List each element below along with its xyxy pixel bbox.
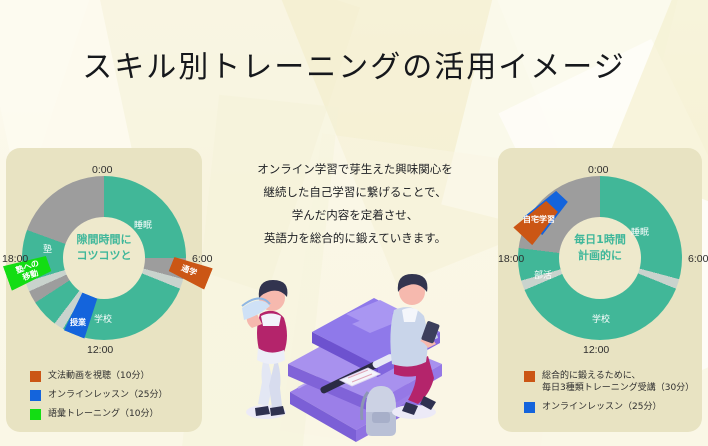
- right-donut-chart: 毎日1時間 計画的に 睡眠 学校 部活 自宅学習: [518, 176, 682, 340]
- left-segment-label-school: 学校: [94, 312, 112, 325]
- right-segment-label-sleep: 睡眠: [631, 225, 649, 238]
- left-segment-label-sleep: 睡眠: [134, 218, 152, 231]
- legend-label: オンラインレッスン（25分）: [542, 401, 661, 413]
- page-title: スキル別トレーニングの活用イメージ: [0, 42, 708, 86]
- left-tick-6: 6:00: [192, 253, 212, 265]
- right-chart-card: 毎日1時間 計画的に 睡眠 学校 部活 自宅学習 0:00 6:00 12:00…: [498, 148, 702, 432]
- description-line-3: 学んだ内容を定着させ、: [222, 204, 488, 227]
- legend-item: オンラインレッスン（25分）: [30, 389, 200, 401]
- legend-label: 文法動画を視聴（10分）: [48, 370, 149, 382]
- right-segment-label-school: 学校: [592, 312, 610, 325]
- legend-item: オンラインレッスン（25分）: [524, 401, 702, 413]
- right-segment-label-club: 部活: [534, 268, 552, 281]
- legend-label-line2: 毎日3種類トレーニング受講（30分）: [542, 382, 694, 394]
- legend-swatch-blue-icon: [524, 402, 535, 413]
- legend-label-block: 総合的に鍛えるために、 毎日3種類トレーニング受講（30分）: [542, 370, 694, 394]
- students-illustration-svg: [228, 252, 484, 446]
- left-legend: 文法動画を視聴（10分） オンラインレッスン（25分） 語彙トレーニング（10分…: [30, 370, 200, 427]
- left-segment-label-cram-school: 塾: [43, 242, 52, 255]
- right-tick-12: 12:00: [583, 344, 609, 356]
- description-line-2: 継続した自己学習に繋げることで、: [222, 181, 488, 204]
- right-center-line2: 計画的に: [518, 248, 682, 264]
- right-tick-18: 18:00: [498, 253, 524, 265]
- legend-item: 語彙トレーニング（10分）: [30, 408, 200, 420]
- description-line-4: 英語力を総合的に鍛えていきます。: [222, 227, 488, 250]
- left-tick-18: 18:00: [2, 253, 28, 265]
- page-root: スキル別トレーニングの活用イメージ 隙間時間に コツコツと 睡眠 学校 塾 通学…: [0, 0, 708, 446]
- legend-swatch-orange-icon: [524, 371, 535, 382]
- left-callout-class-label: 授業: [70, 318, 86, 327]
- legend-swatch-green-icon: [30, 409, 41, 420]
- legend-label: 語彙トレーニング（10分）: [48, 408, 158, 420]
- left-tick-0: 0:00: [92, 164, 112, 176]
- legend-swatch-orange-icon: [30, 371, 41, 382]
- legend-label-line1: 総合的に鍛えるために、: [542, 370, 694, 382]
- students-illustration: [228, 252, 484, 446]
- legend-swatch-blue-icon: [30, 390, 41, 401]
- left-tick-12: 12:00: [87, 344, 113, 356]
- left-chart-card: 隙間時間に コツコツと 睡眠 学校 塾 通学 授業 塾への 移動 0:00 6:…: [6, 148, 202, 432]
- legend-item: 総合的に鍛えるために、 毎日3種類トレーニング受講（30分）: [524, 370, 702, 394]
- legend-label: オンラインレッスン（25分）: [48, 389, 167, 401]
- description-line-1: オンライン学習で芽生えた興味関心を: [222, 158, 488, 181]
- right-center-label: 毎日1時間 計画的に: [518, 232, 682, 264]
- right-legend: 総合的に鍛えるために、 毎日3種類トレーニング受講（30分） オンラインレッスン…: [524, 370, 702, 420]
- legend-item: 文法動画を視聴（10分）: [30, 370, 200, 382]
- right-tick-0: 0:00: [588, 164, 608, 176]
- right-callout-home-study-label: 自宅学習: [523, 215, 555, 224]
- description-paragraph: オンライン学習で芽生えた興味関心を 継続した自己学習に繋げることで、 学んだ内容…: [222, 158, 488, 250]
- left-donut-chart: 隙間時間に コツコツと 睡眠 学校 塾 通学 授業 塾への 移動: [22, 176, 186, 340]
- right-tick-6: 6:00: [688, 253, 708, 265]
